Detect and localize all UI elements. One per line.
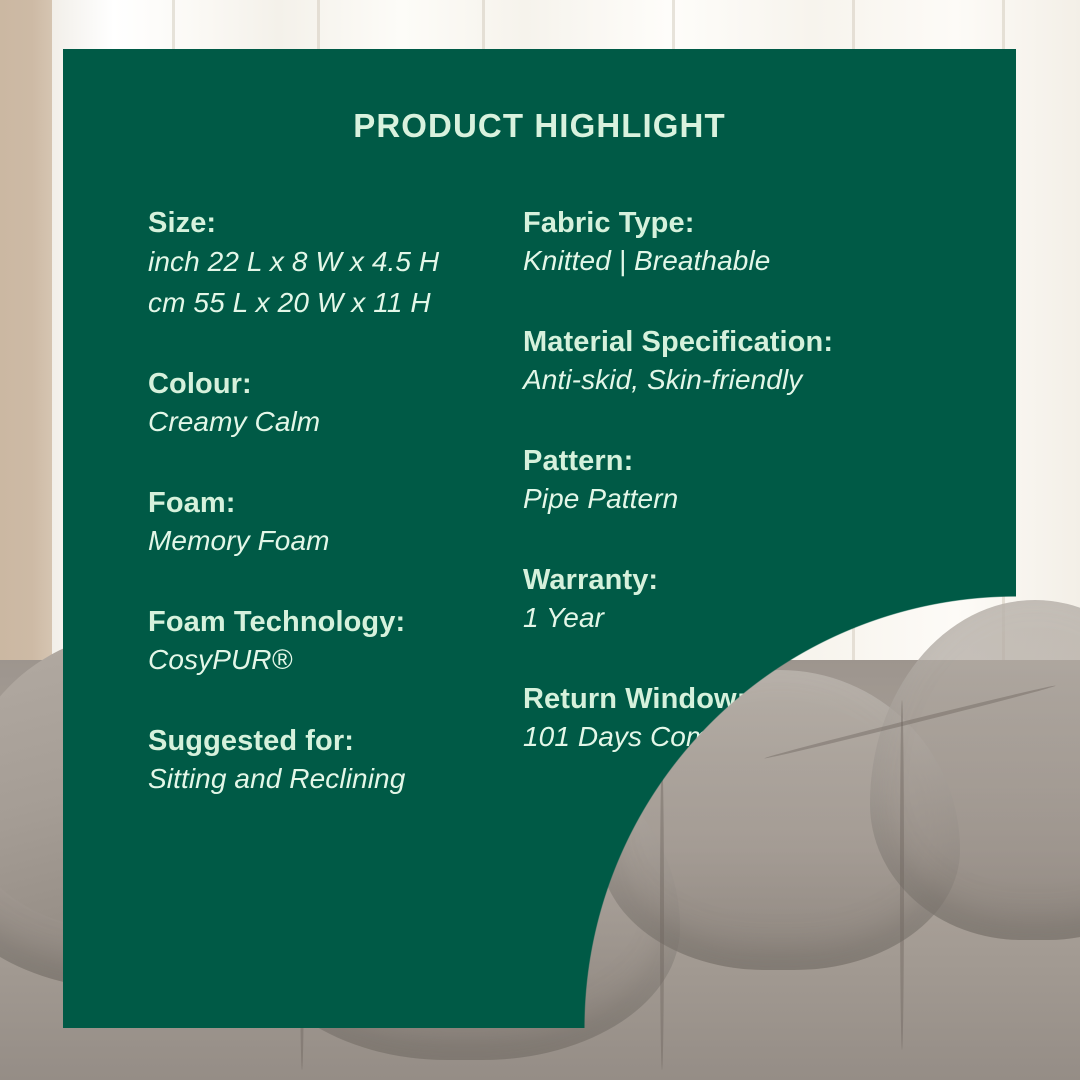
spec-warranty: Warranty: 1 Year	[523, 561, 993, 638]
spec-column-right: Fabric Type: Knitted | Breathable Materi…	[493, 204, 993, 798]
product-highlight-graphic: PRODUCT HIGHLIGHT Size: inch 22 L x 8 W …	[0, 0, 1080, 1080]
spec-label: Warranty:	[523, 561, 993, 599]
spec-foam-technology: Foam Technology: CosyPUR®	[148, 603, 493, 680]
spec-return-window: Return Window: 101 Days Comfort Trial	[523, 680, 993, 757]
spec-value: 101 Days Comfort Trial	[523, 718, 993, 757]
spec-value: Sitting and Reclining	[148, 760, 493, 799]
spec-label: Pattern:	[523, 442, 993, 480]
spec-value: Memory Foam	[148, 522, 493, 561]
spec-value: inch 22 L x 8 W x 4.5 H	[148, 242, 493, 282]
spec-pattern: Pattern: Pipe Pattern	[523, 442, 993, 519]
spec-label: Foam:	[148, 484, 493, 522]
spec-material-specification: Material Specification: Anti-skid, Skin-…	[523, 323, 993, 400]
spec-value: cm 55 L x 20 W x 11 H	[148, 283, 493, 323]
spec-label: Size:	[148, 204, 493, 242]
highlight-card: PRODUCT HIGHLIGHT Size: inch 22 L x 8 W …	[63, 49, 1016, 1028]
spec-colour: Colour: Creamy Calm	[148, 365, 493, 442]
spec-label: Foam Technology:	[148, 603, 493, 641]
spec-fabric-type: Fabric Type: Knitted | Breathable	[523, 204, 993, 281]
spec-column-left: Size: inch 22 L x 8 W x 4.5 H cm 55 L x …	[63, 204, 493, 798]
spec-value: Knitted | Breathable	[523, 242, 993, 281]
spec-label: Return Window:	[523, 680, 993, 718]
spec-value: Anti-skid, Skin-friendly	[523, 361, 993, 400]
spec-value: CosyPUR®	[148, 641, 493, 680]
spec-value: 1 Year	[523, 599, 993, 638]
spec-value: Creamy Calm	[148, 403, 493, 442]
page-title: PRODUCT HIGHLIGHT	[63, 107, 1016, 145]
spec-foam: Foam: Memory Foam	[148, 484, 493, 561]
spec-label: Material Specification:	[523, 323, 993, 361]
spec-label: Fabric Type:	[523, 204, 993, 242]
spec-columns: Size: inch 22 L x 8 W x 4.5 H cm 55 L x …	[63, 204, 1016, 798]
spec-value: Pipe Pattern	[523, 480, 993, 519]
spec-label: Suggested for:	[148, 722, 493, 760]
spec-label: Colour:	[148, 365, 493, 403]
spec-size: Size: inch 22 L x 8 W x 4.5 H cm 55 L x …	[148, 204, 493, 323]
spec-suggested-for: Suggested for: Sitting and Reclining	[148, 722, 493, 799]
